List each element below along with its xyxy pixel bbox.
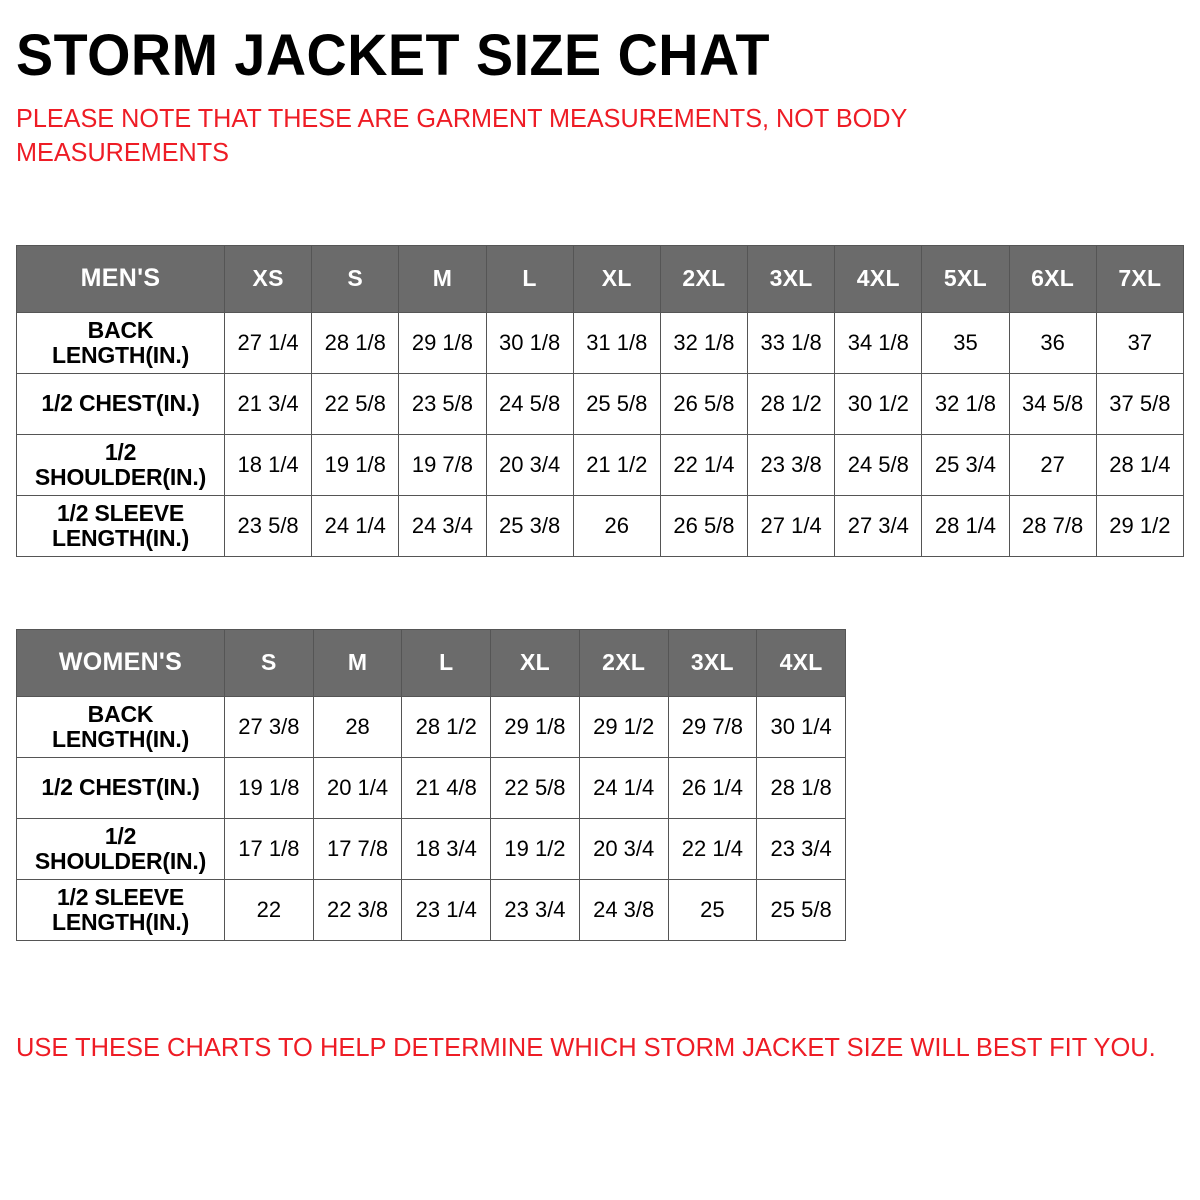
table-row: 1/2 SHOULDER(IN.)18 1/419 1/819 7/820 3/… (17, 434, 1184, 495)
mens-row-label: BACKLENGTH(IN.) (17, 312, 225, 373)
table-row: 1/2 SLEEVELENGTH(IN.)2222 3/823 1/423 3/… (17, 879, 846, 940)
mens-column-header-s: S (312, 245, 399, 312)
womens-column-header-l: L (402, 629, 491, 696)
measurement-cell: 24 5/8 (835, 434, 922, 495)
measurement-cell: 25 3/4 (922, 434, 1009, 495)
measurement-cell: 27 3/8 (225, 696, 314, 757)
measurement-cell: 30 1/8 (486, 312, 573, 373)
table-row: 1/2 SHOULDER(IN.)17 1/817 7/818 3/419 1/… (17, 818, 846, 879)
measurement-cell: 20 3/4 (579, 818, 668, 879)
mens-column-header-2xl: 2XL (660, 245, 747, 312)
womens-row-label: 1/2 SLEEVELENGTH(IN.) (17, 879, 225, 940)
measurement-cell: 24 1/4 (312, 495, 399, 556)
measurement-cell: 21 4/8 (402, 757, 491, 818)
row-label-line: 1/2 CHEST(IN.) (41, 390, 199, 416)
measurement-cell: 29 1/2 (579, 696, 668, 757)
womens-column-header-s: S (225, 629, 314, 696)
measurement-cell: 30 1/2 (835, 373, 922, 434)
measurement-cell: 29 1/8 (399, 312, 486, 373)
measurement-cell: 33 1/8 (748, 312, 835, 373)
womens-column-header-3xl: 3XL (668, 629, 757, 696)
womens-corner-header: WOMEN'S (17, 629, 225, 696)
measurement-cell: 19 1/8 (312, 434, 399, 495)
row-label-line: 1/2 SHOULDER(IN.) (35, 439, 206, 490)
measurement-cell: 27 1/4 (225, 312, 312, 373)
mens-table-container: MEN'SXSSMLXL2XL3XL4XL5XL6XL7XL BACKLENGT… (16, 169, 1184, 557)
measurement-cell: 28 1/2 (402, 696, 491, 757)
mens-size-table: MEN'SXSSMLXL2XL3XL4XL5XL6XL7XL BACKLENGT… (16, 245, 1184, 557)
measurement-cell: 24 3/4 (399, 495, 486, 556)
womens-row-label: 1/2 CHEST(IN.) (17, 757, 225, 818)
mens-corner-header: MEN'S (17, 245, 225, 312)
womens-column-header-4xl: 4XL (757, 629, 846, 696)
measurement-cell: 29 7/8 (668, 696, 757, 757)
measurement-cell: 34 5/8 (1009, 373, 1096, 434)
measurement-cell: 29 1/2 (1096, 495, 1183, 556)
measurement-cell: 22 5/8 (491, 757, 580, 818)
size-chart-page: STORM JACKET SIZE CHAT PLEASE NOTE THAT … (0, 0, 1200, 1200)
measurement-cell: 18 3/4 (402, 818, 491, 879)
measurement-cell: 17 1/8 (225, 818, 314, 879)
row-label-line: 1/2 SLEEVE (57, 500, 184, 526)
row-label-line: LENGTH(IN.) (52, 909, 189, 935)
measurement-cell: 25 3/8 (486, 495, 573, 556)
row-label-line: 1/2 CHEST(IN.) (41, 774, 199, 800)
measurement-cell: 17 7/8 (313, 818, 402, 879)
measurement-cell: 29 1/8 (491, 696, 580, 757)
measurement-cell: 28 1/2 (748, 373, 835, 434)
row-label-line: LENGTH(IN.) (52, 342, 189, 368)
measurement-cell: 19 7/8 (399, 434, 486, 495)
measurement-cell: 19 1/8 (225, 757, 314, 818)
usage-note: USE THESE CHARTS TO HELP DETERMINE WHICH… (16, 941, 1161, 1064)
measurement-cell: 30 1/4 (757, 696, 846, 757)
measurement-cell: 24 1/4 (579, 757, 668, 818)
measurement-cell: 23 5/8 (399, 373, 486, 434)
page-title: STORM JACKET SIZE CHAT (16, 0, 1137, 86)
womens-table-body: BACKLENGTH(IN.)27 3/82828 1/229 1/829 1/… (17, 696, 846, 940)
measurement-cell: 22 3/8 (313, 879, 402, 940)
row-label-line: 1/2 SLEEVE (57, 884, 184, 910)
measurement-cell: 28 1/8 (312, 312, 399, 373)
mens-column-header-l: L (486, 245, 573, 312)
measurement-cell: 24 5/8 (486, 373, 573, 434)
measurement-cell: 25 (668, 879, 757, 940)
measurement-cell: 37 5/8 (1096, 373, 1183, 434)
table-row: BACKLENGTH(IN.)27 3/82828 1/229 1/829 1/… (17, 696, 846, 757)
measurement-cell: 18 1/4 (225, 434, 312, 495)
measurement-cell: 25 5/8 (757, 879, 846, 940)
measurement-cell: 28 1/8 (757, 757, 846, 818)
row-label-line: 1/2 SHOULDER(IN.) (35, 823, 206, 874)
measurement-cell: 26 5/8 (660, 495, 747, 556)
row-label-line: LENGTH(IN.) (52, 726, 189, 752)
measurement-cell: 28 (313, 696, 402, 757)
measurement-cell: 23 3/4 (491, 879, 580, 940)
measurement-cell: 23 1/4 (402, 879, 491, 940)
row-label-line: BACK (88, 701, 154, 727)
mens-column-header-7xl: 7XL (1096, 245, 1183, 312)
measurement-cell: 27 (1009, 434, 1096, 495)
measurement-cell: 20 1/4 (313, 757, 402, 818)
womens-size-table: WOMEN'SSMLXL2XL3XL4XL BACKLENGTH(IN.)27 … (16, 629, 846, 941)
measurement-cell: 23 3/8 (748, 434, 835, 495)
measurement-cell: 32 1/8 (922, 373, 1009, 434)
table-row: 1/2 CHEST(IN.)21 3/422 5/823 5/824 5/825… (17, 373, 1184, 434)
garment-measurement-note: PLEASE NOTE THAT THESE ARE GARMENT MEASU… (16, 86, 971, 169)
womens-row-label: 1/2 SHOULDER(IN.) (17, 818, 225, 879)
measurement-cell: 22 1/4 (668, 818, 757, 879)
measurement-cell: 20 3/4 (486, 434, 573, 495)
measurement-cell: 26 1/4 (668, 757, 757, 818)
womens-row-label: BACKLENGTH(IN.) (17, 696, 225, 757)
measurement-cell: 22 1/4 (660, 434, 747, 495)
mens-row-label: 1/2 CHEST(IN.) (17, 373, 225, 434)
mens-row-label: 1/2 SHOULDER(IN.) (17, 434, 225, 495)
measurement-cell: 28 1/4 (922, 495, 1009, 556)
measurement-cell: 25 5/8 (573, 373, 660, 434)
womens-column-header-xl: XL (491, 629, 580, 696)
measurement-cell: 27 3/4 (835, 495, 922, 556)
measurement-cell: 37 (1096, 312, 1183, 373)
womens-column-header-m: M (313, 629, 402, 696)
mens-header-row: MEN'SXSSMLXL2XL3XL4XL5XL6XL7XL (17, 245, 1184, 312)
mens-column-header-6xl: 6XL (1009, 245, 1096, 312)
measurement-cell: 34 1/8 (835, 312, 922, 373)
mens-table-body: BACKLENGTH(IN.)27 1/428 1/829 1/830 1/83… (17, 312, 1184, 556)
mens-column-header-4xl: 4XL (835, 245, 922, 312)
measurement-cell: 21 3/4 (225, 373, 312, 434)
measurement-cell: 21 1/2 (573, 434, 660, 495)
mens-column-header-xs: XS (225, 245, 312, 312)
mens-row-label: 1/2 SLEEVELENGTH(IN.) (17, 495, 225, 556)
measurement-cell: 26 5/8 (660, 373, 747, 434)
measurement-cell: 36 (1009, 312, 1096, 373)
mens-table-header: MEN'SXSSMLXL2XL3XL4XL5XL6XL7XL (17, 245, 1184, 312)
table-row: 1/2 SLEEVELENGTH(IN.)23 5/824 1/424 3/42… (17, 495, 1184, 556)
measurement-cell: 32 1/8 (660, 312, 747, 373)
measurement-cell: 35 (922, 312, 1009, 373)
row-label-line: LENGTH(IN.) (52, 525, 189, 551)
table-row: 1/2 CHEST(IN.)19 1/820 1/421 4/822 5/824… (17, 757, 846, 818)
mens-column-header-xl: XL (573, 245, 660, 312)
measurement-cell: 28 7/8 (1009, 495, 1096, 556)
mens-column-header-m: M (399, 245, 486, 312)
measurement-cell: 24 3/8 (579, 879, 668, 940)
measurement-cell: 31 1/8 (573, 312, 660, 373)
measurement-cell: 22 (225, 879, 314, 940)
measurement-cell: 26 (573, 495, 660, 556)
measurement-cell: 23 5/8 (225, 495, 312, 556)
measurement-cell: 28 1/4 (1096, 434, 1183, 495)
measurement-cell: 19 1/2 (491, 818, 580, 879)
womens-column-header-2xl: 2XL (579, 629, 668, 696)
measurement-cell: 23 3/4 (757, 818, 846, 879)
row-label-line: BACK (88, 317, 154, 343)
mens-column-header-3xl: 3XL (748, 245, 835, 312)
mens-column-header-5xl: 5XL (922, 245, 1009, 312)
measurement-cell: 27 1/4 (748, 495, 835, 556)
measurement-cell: 22 5/8 (312, 373, 399, 434)
womens-table-header: WOMEN'SSMLXL2XL3XL4XL (17, 629, 846, 696)
table-row: BACKLENGTH(IN.)27 1/428 1/829 1/830 1/83… (17, 312, 1184, 373)
womens-table-container: WOMEN'SSMLXL2XL3XL4XL BACKLENGTH(IN.)27 … (16, 557, 1184, 941)
womens-header-row: WOMEN'SSMLXL2XL3XL4XL (17, 629, 846, 696)
